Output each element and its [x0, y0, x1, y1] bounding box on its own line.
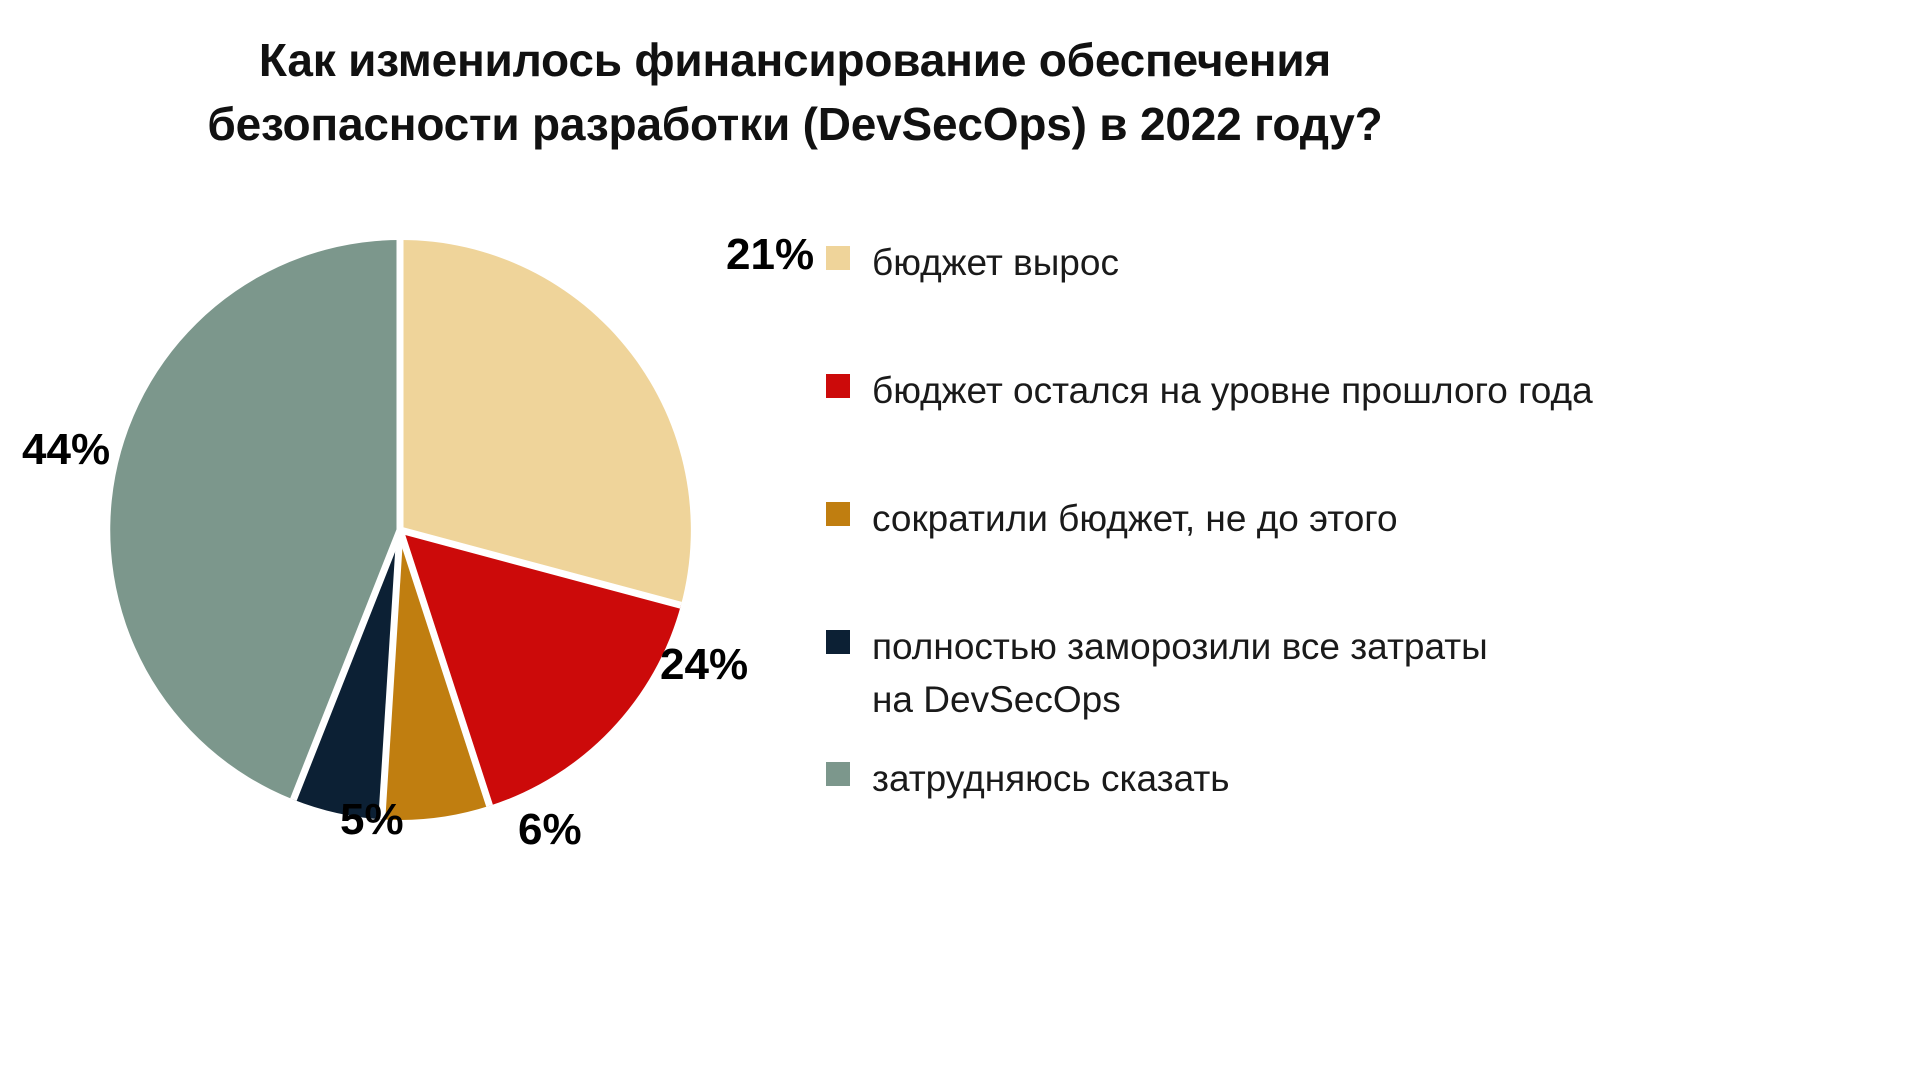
legend-item-dont-know[interactable]: затрудняюсь сказать	[826, 752, 1230, 805]
legend-item-frozen[interactable]: полностью заморозили все затраты на DevS…	[826, 620, 1488, 726]
legend-label-frozen: полностью заморозили все затраты на DevS…	[872, 620, 1488, 726]
data-label-44: 44%	[22, 425, 110, 475]
legend-label-budget-cut: сократили бюджет, не до этого	[872, 492, 1398, 545]
legend-label-frozen-line-2: на DevSecOps	[872, 673, 1488, 726]
pie-plot-area	[0, 180, 820, 940]
legend: бюджет вырос бюджет остался на уровне пр…	[826, 222, 1920, 1042]
legend-label-frozen-line-1: полностью заморозили все затраты	[872, 620, 1488, 673]
data-label-5: 5%	[340, 795, 404, 845]
legend-swatch-icon-wheat	[826, 246, 850, 270]
page-title: Как изменилось финансирование обеспечени…	[0, 28, 1590, 156]
data-label-21: 21%	[726, 230, 814, 280]
pie-chart-figure: Как изменилось финансирование обеспечени…	[0, 0, 1920, 1080]
legend-swatch-icon-goldenrod	[826, 502, 850, 526]
legend-swatch-icon-navy	[826, 630, 850, 654]
legend-label-dont-know: затрудняюсь сказать	[872, 752, 1230, 805]
legend-label-budget-increased: бюджет вырос	[872, 236, 1119, 289]
legend-item-budget-same[interactable]: бюджет остался на уровне прошлого года	[826, 364, 1593, 417]
data-label-24: 24%	[660, 640, 748, 690]
page-title-line-1: Как изменилось финансирование обеспечени…	[0, 28, 1590, 92]
legend-label-budget-same: бюджет остался на уровне прошлого года	[872, 364, 1593, 417]
data-label-6: 6%	[518, 805, 582, 855]
legend-item-budget-cut[interactable]: сократили бюджет, не до этого	[826, 492, 1398, 545]
legend-swatch-icon-sage	[826, 762, 850, 786]
page-title-line-2: безопасности разработки (DevSecOps) в 20…	[0, 92, 1590, 156]
pie-svg	[0, 180, 820, 940]
legend-swatch-icon-red	[826, 374, 850, 398]
legend-item-budget-increased[interactable]: бюджет вырос	[826, 236, 1119, 289]
